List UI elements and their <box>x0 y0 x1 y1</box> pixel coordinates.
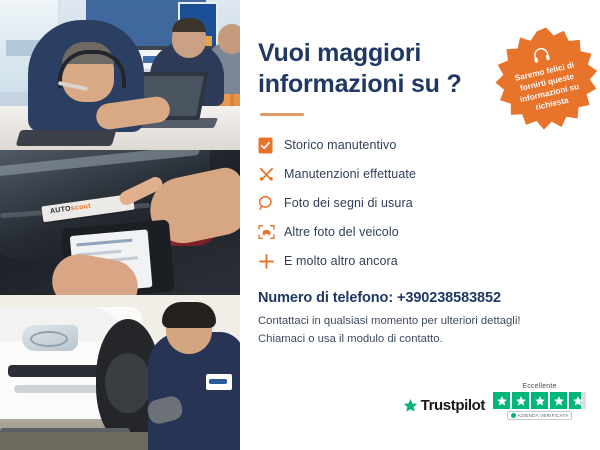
checklist-icon <box>258 137 284 154</box>
trustpilot-verified-badge: AZIENDA VERIFICATA <box>507 411 573 420</box>
feature-item-molto-altro: E molto altro ancora <box>258 248 582 274</box>
headset-icon <box>529 44 552 67</box>
star-5 <box>569 392 586 409</box>
contact-subtext: Contattaci in qualsiasi momento per ulte… <box>258 313 582 348</box>
trustpilot-logo: Trustpilot <box>403 397 485 420</box>
feature-item-altre-foto-veicolo: Altre foto del veicolo <box>258 219 582 245</box>
feature-item-storico-manutentivo: Storico manutentivo <box>258 132 582 158</box>
trustpilot-widget[interactable]: Trustpilot Eccellente AZIENDA VERIFICATA <box>403 383 586 420</box>
trustpilot-star-icon <box>403 398 418 413</box>
car-focus-icon <box>258 224 284 240</box>
phone-label: Numero di telefono: <box>258 290 393 306</box>
advertisement-banner: AUTOscout Vuoi maggiori infor <box>0 0 600 450</box>
trustpilot-name: Trustpilot <box>421 397 485 414</box>
feature-item-manutenzioni-effettuate: Manutenzioni effettuate <box>258 161 582 187</box>
star-3 <box>531 392 548 409</box>
feature-label: E molto altro ancora <box>284 254 398 268</box>
trustpilot-rating-label: Eccellente <box>522 383 556 390</box>
photo-column: AUTOscout <box>0 0 240 450</box>
feature-label: Altre foto del veicolo <box>284 225 399 239</box>
trustpilot-stars <box>493 392 586 409</box>
callout-badge: Saremo felici di fornirti queste informa… <box>494 26 598 130</box>
badge-text: Saremo felici di fornirti queste informa… <box>504 58 594 119</box>
vehicle-inspection-tablet-photo: AUTOscout <box>0 150 240 295</box>
content-panel: Vuoi maggiori informazioni su ? Saremo f… <box>240 0 600 450</box>
verified-check-icon <box>511 413 516 418</box>
trustpilot-rating: Eccellente AZIENDA VERIFICATA <box>493 383 586 420</box>
feature-item-foto-segni-usura: Foto dei segni di usura <box>258 190 582 216</box>
tools-icon <box>258 166 284 183</box>
mechanic-wheel-check-photo <box>0 295 240 450</box>
call-center-agents-photo <box>0 0 240 150</box>
magnifier-icon <box>258 195 284 211</box>
contact-subtext-line-1: Contattaci in qualsiasi momento per ulte… <box>258 313 582 331</box>
verified-label: AZIENDA VERIFICATA <box>518 413 569 418</box>
page-title: Vuoi maggiori informazioni su ? <box>258 0 468 99</box>
plus-icon <box>258 253 284 270</box>
feature-label: Storico manutentivo <box>284 138 396 152</box>
star-4 <box>550 392 567 409</box>
star-1 <box>493 392 510 409</box>
star-2 <box>512 392 529 409</box>
phone-line: Numero di telefono: +390238583852 <box>258 290 582 306</box>
feature-label: Manutenzioni effettuate <box>284 167 416 181</box>
phone-number[interactable]: +390238583852 <box>397 290 501 306</box>
feature-list: Storico manutentivo Manutenzioni effettu… <box>258 132 582 274</box>
feature-label: Foto dei segni di usura <box>284 196 413 210</box>
contact-subtext-line-2: Chiamaci o usa il modulo di contatto. <box>258 331 582 349</box>
title-underline-accent <box>260 113 304 116</box>
